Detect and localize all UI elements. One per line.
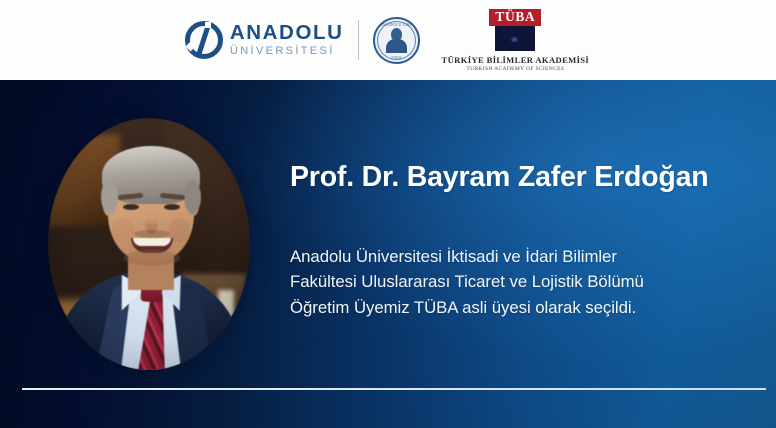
photo-hair-side-right xyxy=(184,180,201,214)
ataturk-seal-icon: ANADOLU ÜNİVERSİTESİ 1958 xyxy=(373,17,420,64)
photo-hair-side-left xyxy=(101,180,118,214)
photo-teeth xyxy=(133,238,171,246)
person-name-title: Prof. Dr. Bayram Zafer Erdoğan xyxy=(290,162,746,194)
main-blue-panel: Prof. Dr. Bayram Zafer Erdoğan Anadolu Ü… xyxy=(0,80,776,428)
logo-row: ANADOLU ÜNİVERSİTESİ ANADOLU ÜNİVERSİTES… xyxy=(185,9,589,72)
portrait-image xyxy=(48,118,250,370)
tuba-emblem-banner: TÜBA xyxy=(489,9,541,26)
anadolu-wordmark: ANADOLU ÜNİVERSİTESİ xyxy=(230,23,344,58)
tuba-emblem-icon: TÜBA xyxy=(489,9,541,51)
announcement-poster: ANADOLU ÜNİVERSİTESİ ANADOLU ÜNİVERSİTES… xyxy=(0,0,776,428)
anadolu-subname: ÜNİVERSİTESİ xyxy=(230,46,344,57)
photo-eye-right xyxy=(164,204,180,210)
anadolu-mark-notch-top xyxy=(205,22,211,28)
seal-portrait-icon xyxy=(386,28,407,53)
anadolu-circle-mark-icon xyxy=(185,21,223,59)
announcement-body-line: Anadolu Üniversitesi İktisadi ve İdari B… xyxy=(290,244,746,270)
announcement-text-block: Prof. Dr. Bayram Zafer Erdoğan Anadolu Ü… xyxy=(290,162,746,321)
bottom-divider-rule xyxy=(22,388,766,390)
seal-portrait-body xyxy=(386,39,407,53)
logo-divider xyxy=(358,20,359,60)
tuba-title-en: TURKISH ACADEMY OF SCIENCES xyxy=(466,66,564,72)
tuba-wordmark: TÜBA xyxy=(495,10,535,24)
anadolu-university-logo: ANADOLU ÜNİVERSİTESİ xyxy=(185,21,344,59)
announcement-body-line: Fakültesi Uluslararası Ticaret ve Lojist… xyxy=(290,269,746,295)
anadolu-name: ANADOLU xyxy=(230,23,344,44)
tuba-title-tr: TÜRKİYE BİLİMLER AKADEMİSİ xyxy=(442,55,590,65)
logo-header-band: ANADOLU ÜNİVERSİTESİ ANADOLU ÜNİVERSİTES… xyxy=(0,0,776,80)
announcement-body-line: Öğretim Üyemiz TÜBA asli üyesi olarak se… xyxy=(290,295,746,321)
portrait-photo xyxy=(48,118,250,370)
tuba-logo: TÜBA TÜRKİYE BİLİMLER AKADEMİSİ TURKISH … xyxy=(442,9,590,72)
photo-upper-lip xyxy=(134,230,170,238)
photo-chin-shadow xyxy=(124,250,180,266)
announcement-body: Anadolu Üniversitesi İktisadi ve İdari B… xyxy=(290,244,746,321)
photo-eye-left xyxy=(123,204,139,210)
seal-arc-bottom-text: 1958 xyxy=(382,55,411,60)
